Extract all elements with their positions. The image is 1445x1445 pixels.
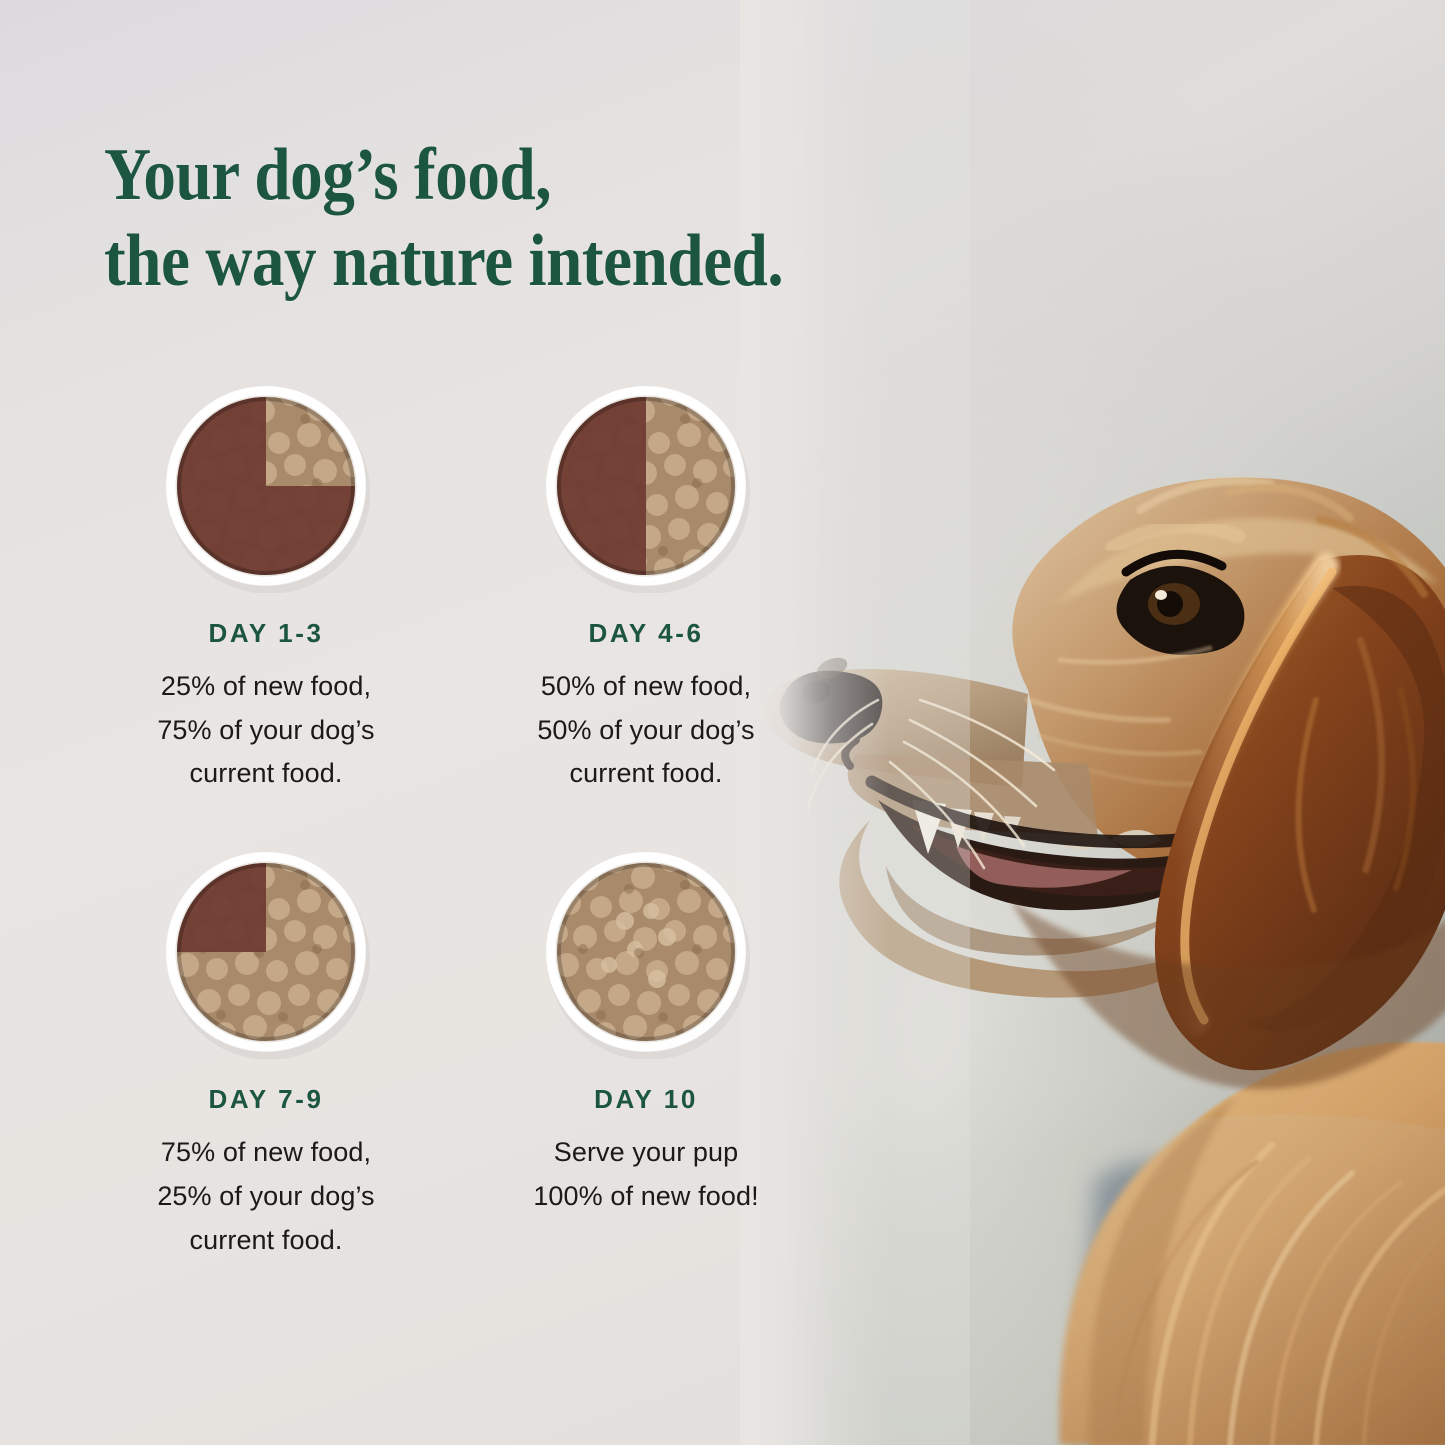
step-day-4-6: DAY 4-6 50% of new food, 50% of your dog… bbox=[476, 372, 816, 796]
infographic-canvas: Your dog’s food, the way nature intended… bbox=[0, 0, 1445, 1445]
step-day-10: DAY 10 Serve your pup 100% of new food! bbox=[476, 838, 816, 1262]
step-day-1-3: DAY 1-3 25% of new food, 75% of your dog… bbox=[96, 372, 436, 796]
bowl-wrap bbox=[96, 372, 436, 600]
step-description: 25% of new food, 75% of your dog’s curre… bbox=[96, 665, 436, 796]
step-description: 75% of new food, 25% of your dog’s curre… bbox=[96, 1131, 436, 1262]
step-label: DAY 4-6 bbox=[476, 620, 816, 646]
page-title: Your dog’s food, the way nature intended… bbox=[104, 133, 966, 305]
step-description: Serve your pup 100% of new food! bbox=[476, 1131, 816, 1218]
dog-food-bowl-icon bbox=[159, 845, 373, 1059]
feeding-transition-steps: DAY 1-3 25% of new food, 75% of your dog… bbox=[96, 372, 816, 1262]
dog-food-bowl-icon bbox=[539, 379, 753, 593]
bowl-wrap bbox=[476, 372, 816, 600]
step-description: 50% of new food, 50% of your dog’s curre… bbox=[476, 665, 816, 796]
dog-food-bowl-icon bbox=[159, 379, 373, 593]
step-label: DAY 10 bbox=[476, 1086, 816, 1112]
step-label: DAY 7-9 bbox=[96, 1086, 436, 1112]
step-label: DAY 1-3 bbox=[96, 620, 436, 646]
dog-food-bowl-icon bbox=[539, 845, 753, 1059]
bowl-wrap bbox=[476, 838, 816, 1066]
step-day-7-9: DAY 7-9 75% of new food, 25% of your dog… bbox=[96, 838, 436, 1262]
bowl-wrap bbox=[96, 838, 436, 1066]
